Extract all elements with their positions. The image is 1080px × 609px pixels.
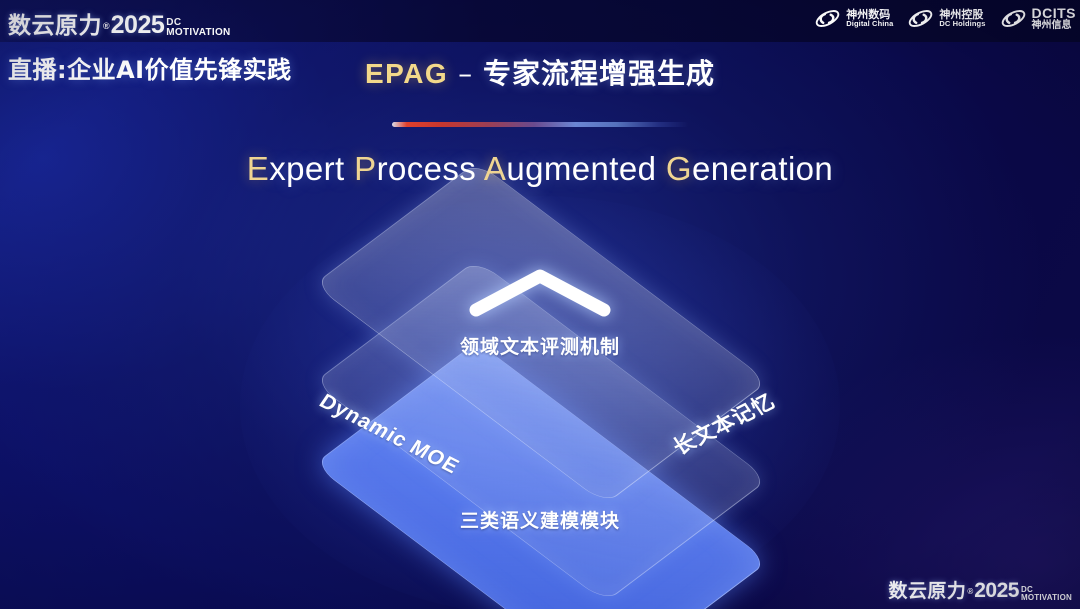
partner-logo-group: 神州数码 Digital China 神州控股 DC Holdings [814, 5, 1076, 32]
partner-logo-dc-holdings: 神州控股 DC Holdings [907, 5, 985, 32]
partner-name-cn: 神州信息 [1032, 21, 1077, 32]
subtitle-rest-augmented: ugmented [506, 150, 666, 187]
subtitle-cap-p: P [354, 150, 376, 187]
registered-mark-icon: ® [967, 587, 973, 596]
partner-text: 神州数码 Digital China [846, 9, 893, 29]
brand-year: 2025 [974, 579, 1019, 603]
subtitle-rest-expert: xpert [269, 150, 354, 187]
swirl-logo-icon [1000, 5, 1027, 32]
subtitle-rest-process: rocess [377, 150, 484, 187]
slide-canvas: 数云原力 ® 2025 DC MOTIVATION 直播:企业AI价值先锋实践 … [0, 0, 1080, 609]
partner-name-en: Digital China [846, 20, 893, 28]
subtitle-cap-g: G [666, 150, 692, 187]
subtitle-cap-a: A [484, 150, 506, 187]
brand-motivation: MOTIVATION [1021, 594, 1072, 602]
brand-name-cn: 数云原力 [8, 6, 102, 40]
headline-livestream: 直播:企业AI价值先锋实践 [8, 50, 292, 85]
page-subtitle: Expert Process Augmented Generation [0, 150, 1080, 188]
swirl-logo-icon [907, 5, 934, 32]
title-dash: – [448, 57, 483, 90]
brand-name-cn: 数云原力 [888, 576, 966, 603]
title-acronym: EPAG [365, 58, 448, 89]
brand-motivation: MOTIVATION [166, 28, 230, 38]
title-divider [392, 122, 688, 127]
partner-name-en: DC Holdings [939, 20, 985, 28]
brand-year: 2025 [111, 11, 165, 40]
partner-logo-dcits: 神州信息 DCITS [1000, 5, 1077, 32]
registered-mark-icon: ® [103, 21, 110, 31]
title-chinese: 专家流程增强生成 [483, 57, 715, 90]
subtitle-rest-generation: eneration [692, 150, 833, 187]
brand-dc-motivation: DC MOTIVATION [166, 18, 230, 40]
partner-text: 神州信息 DCITS [1032, 6, 1077, 32]
brand-dc-motivation: DC MOTIVATION [1021, 586, 1072, 603]
subtitle-cap-e: E [247, 150, 269, 187]
partner-name-en: DCITS [1032, 6, 1077, 21]
brand-logo-watermark: 数云原力 ® 2025 DC MOTIVATION [888, 576, 1072, 603]
partner-logo-digital-china: 神州数码 Digital China [814, 5, 893, 32]
swirl-logo-icon [814, 5, 841, 32]
brand-logo-top: 数云原力 ® 2025 DC MOTIVATION [8, 6, 231, 40]
layered-architecture-diagram: 领域文本评测机制 Dynamic MOE 长文本记忆 三类语义建模模块 [268, 214, 812, 584]
partner-text: 神州控股 DC Holdings [939, 9, 985, 29]
